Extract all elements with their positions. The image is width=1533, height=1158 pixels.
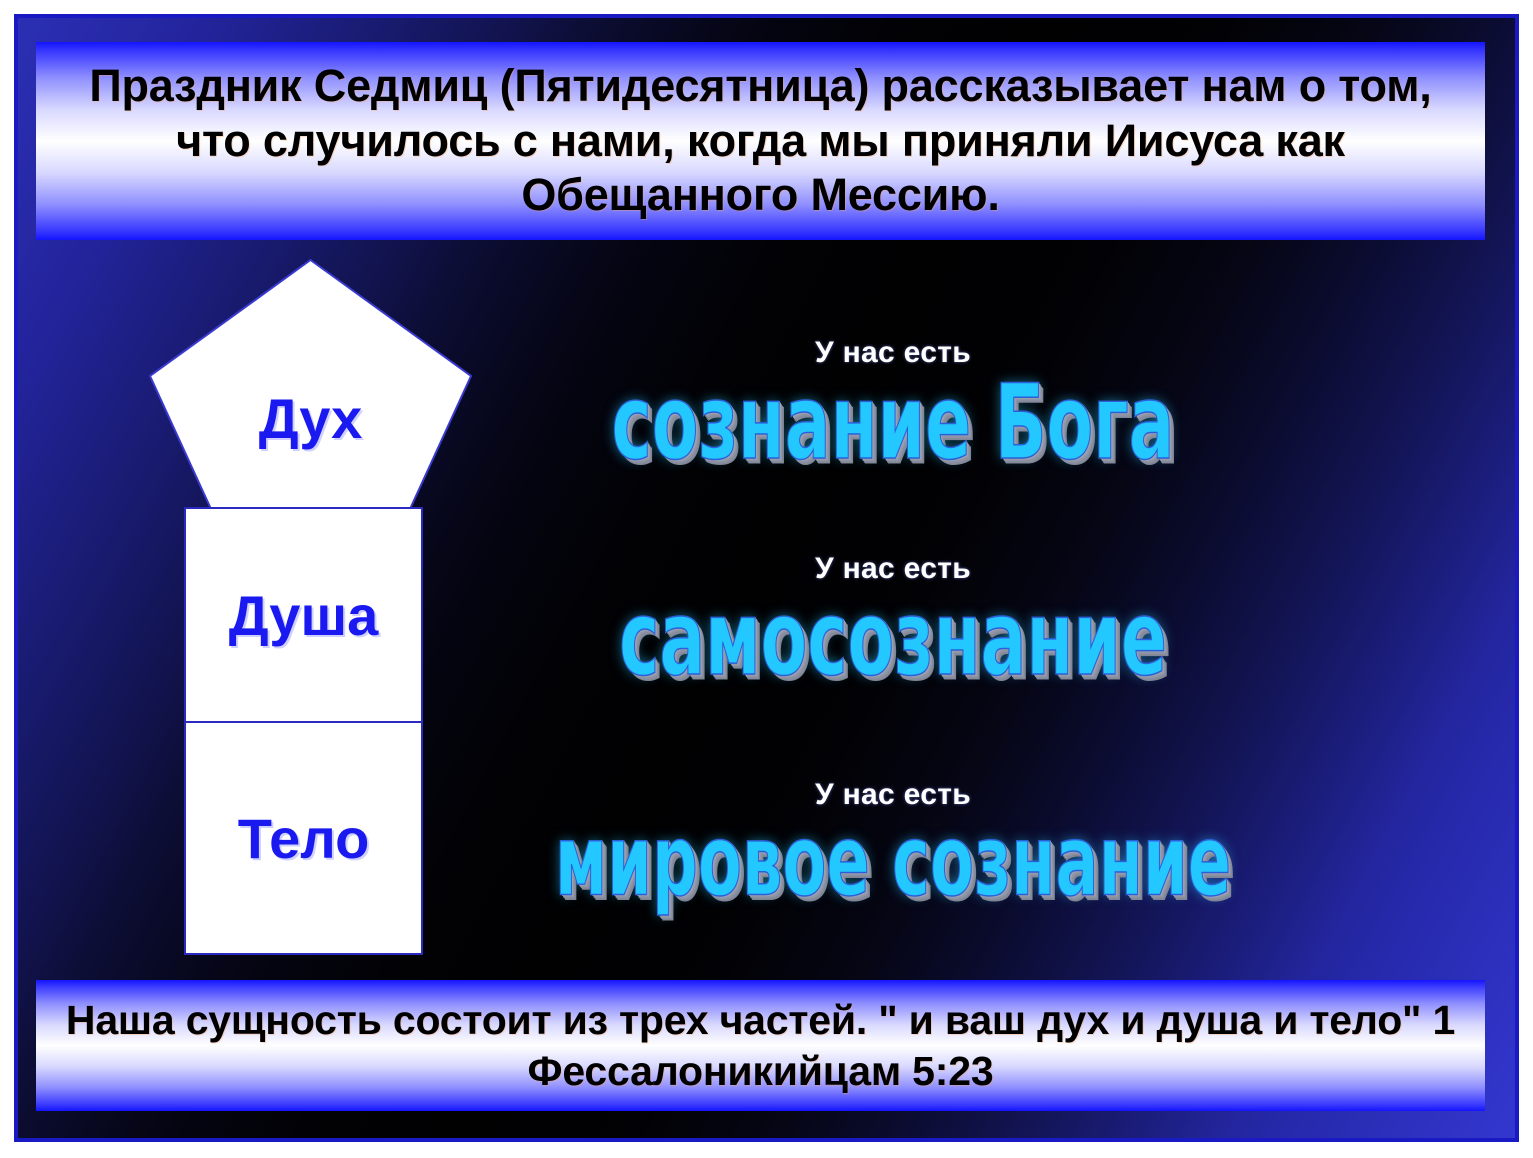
- body-box: Тело: [184, 721, 423, 955]
- spirit-label: Дух: [259, 387, 363, 450]
- soul-label: Душа: [229, 583, 379, 648]
- concept-2-wordart: самосознание: [534, 585, 1252, 693]
- concept-god-consciousness: У нас есть сознание Бога: [523, 336, 1263, 449]
- verse-banner: Наша сущность состоит из трех частей. " …: [36, 980, 1485, 1111]
- verse-text: Наша сущность состоит из трех частей. " …: [36, 995, 1485, 1095]
- title-text: Праздник Седмиц (Пятидесятница) рассказы…: [36, 59, 1485, 224]
- slide-frame: Праздник Седмиц (Пятидесятница) рассказы…: [14, 14, 1519, 1142]
- title-banner: Праздник Седмиц (Пятидесятница) рассказы…: [36, 42, 1485, 240]
- pentagon-shape: Дух: [148, 258, 473, 511]
- soul-box: Душа: [184, 507, 423, 723]
- concept-1-wordart: сознание Бога: [534, 369, 1252, 477]
- concept-world-consciousness: У нас есть мировое сознание: [523, 778, 1263, 887]
- slide-background: Праздник Седмиц (Пятидесятница) рассказы…: [18, 18, 1515, 1138]
- pentagon-label-wrap: Дух: [148, 386, 473, 451]
- tripartite-figure: Дух Душа Тело: [148, 258, 488, 948]
- concept-self-consciousness: У нас есть самосознание: [523, 552, 1263, 665]
- body-label: Тело: [238, 806, 370, 871]
- pentagon-icon: [148, 258, 473, 511]
- concept-3-wordart: мировое сознание: [534, 811, 1252, 913]
